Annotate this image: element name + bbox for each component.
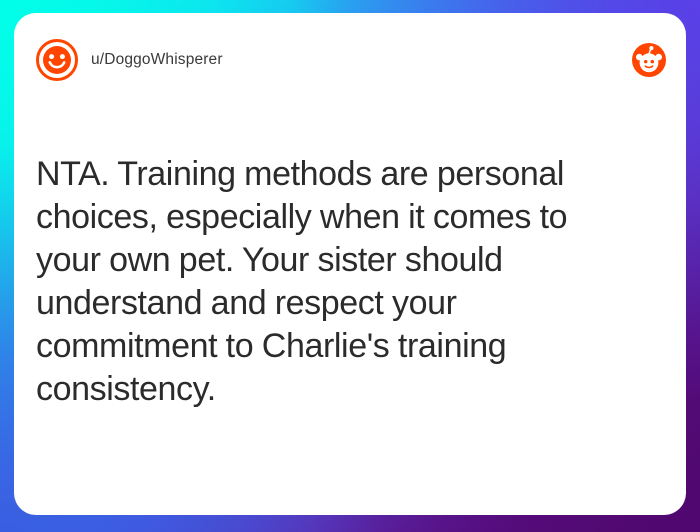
smiley-face-avatar-icon [36, 39, 78, 81]
gradient-background: u/DoggoWhisperer NTA. Training methods a… [0, 0, 700, 532]
author-username: u/DoggoWhisperer [91, 51, 223, 69]
author-block[interactable]: u/DoggoWhisperer [36, 39, 632, 81]
reddit-snoo-logo-icon [632, 43, 666, 77]
reddit-post-card: u/DoggoWhisperer NTA. Training methods a… [14, 13, 686, 515]
post-body: NTA. Training methods are personal choic… [36, 153, 656, 411]
post-header: u/DoggoWhisperer [14, 13, 686, 107]
post-text: NTA. Training methods are personal choic… [36, 153, 636, 411]
